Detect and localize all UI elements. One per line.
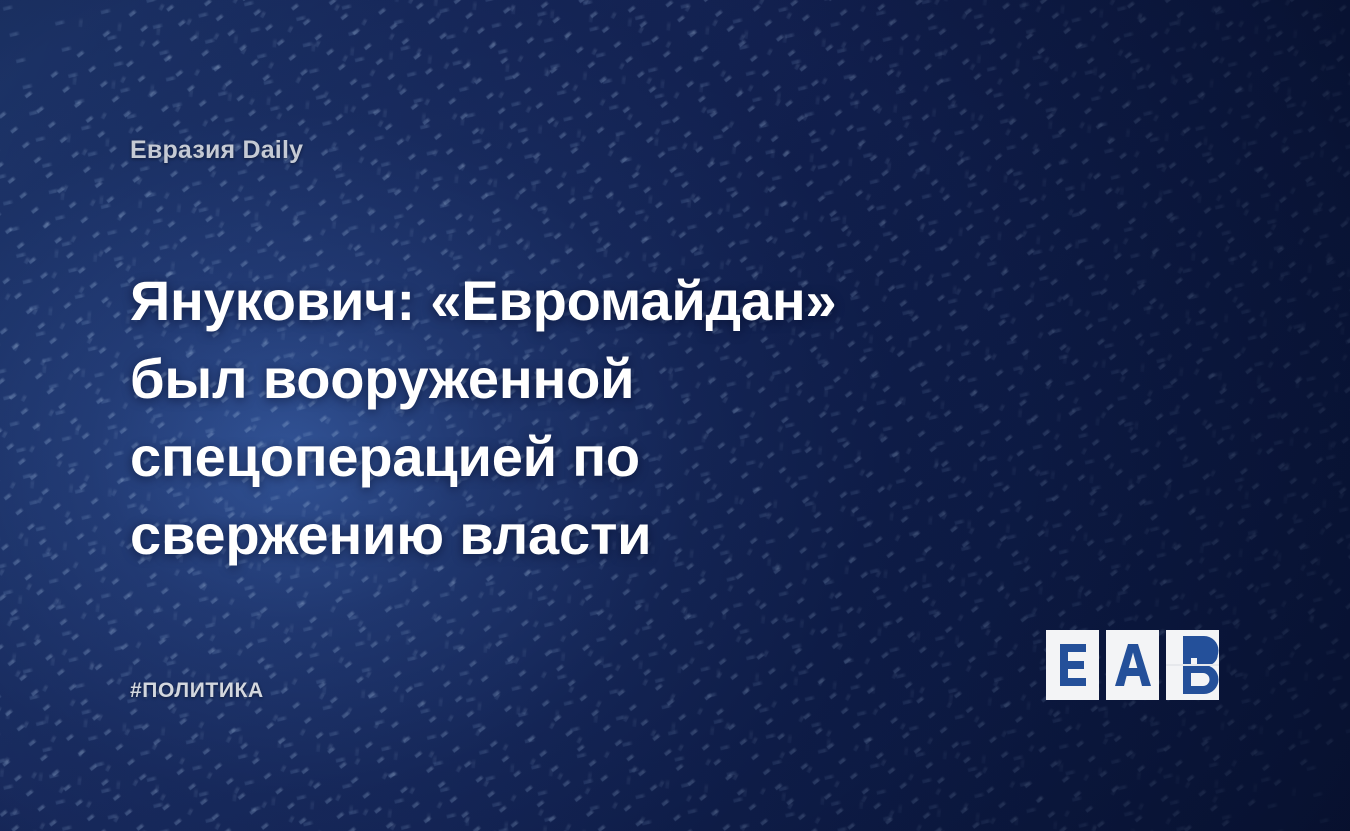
news-card: Евразия Daily Янукович: «Евромайдан» был… [0,0,1350,831]
logo-tile-e [1046,630,1099,700]
site-name: Евразия Daily [130,136,303,165]
logo-letter-d-split-icon [1166,630,1219,700]
logo-tile-d [1166,630,1219,700]
headline: Янукович: «Евромайдан» был вооруженной с… [130,262,960,574]
logo-tile-a [1106,630,1159,700]
logo-letter-a-icon [1114,642,1152,688]
card-content: Евразия Daily Янукович: «Евромайдан» был… [0,0,1350,831]
ead-logo [1046,630,1219,700]
category-tag: #ПОЛИТИКА [130,679,264,703]
logo-letter-e-icon [1056,642,1090,688]
